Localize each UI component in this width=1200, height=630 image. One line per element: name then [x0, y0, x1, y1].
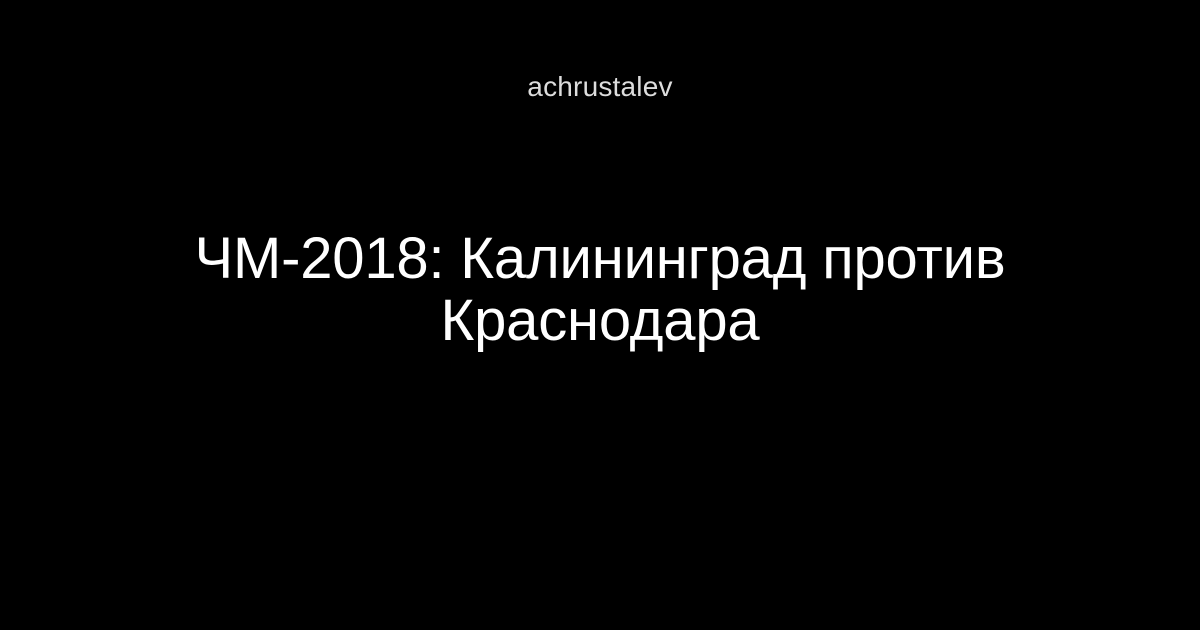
social-preview-card: achrustalev ЧМ-2018: Калининград против …	[0, 0, 1200, 630]
page-title: ЧМ-2018: Калининград против Краснодара	[170, 228, 1030, 352]
title-block: ЧМ-2018: Калининград против Краснодара	[170, 228, 1030, 352]
author-name: achrustalev	[527, 70, 672, 104]
author-row: achrustalev	[0, 70, 1200, 104]
